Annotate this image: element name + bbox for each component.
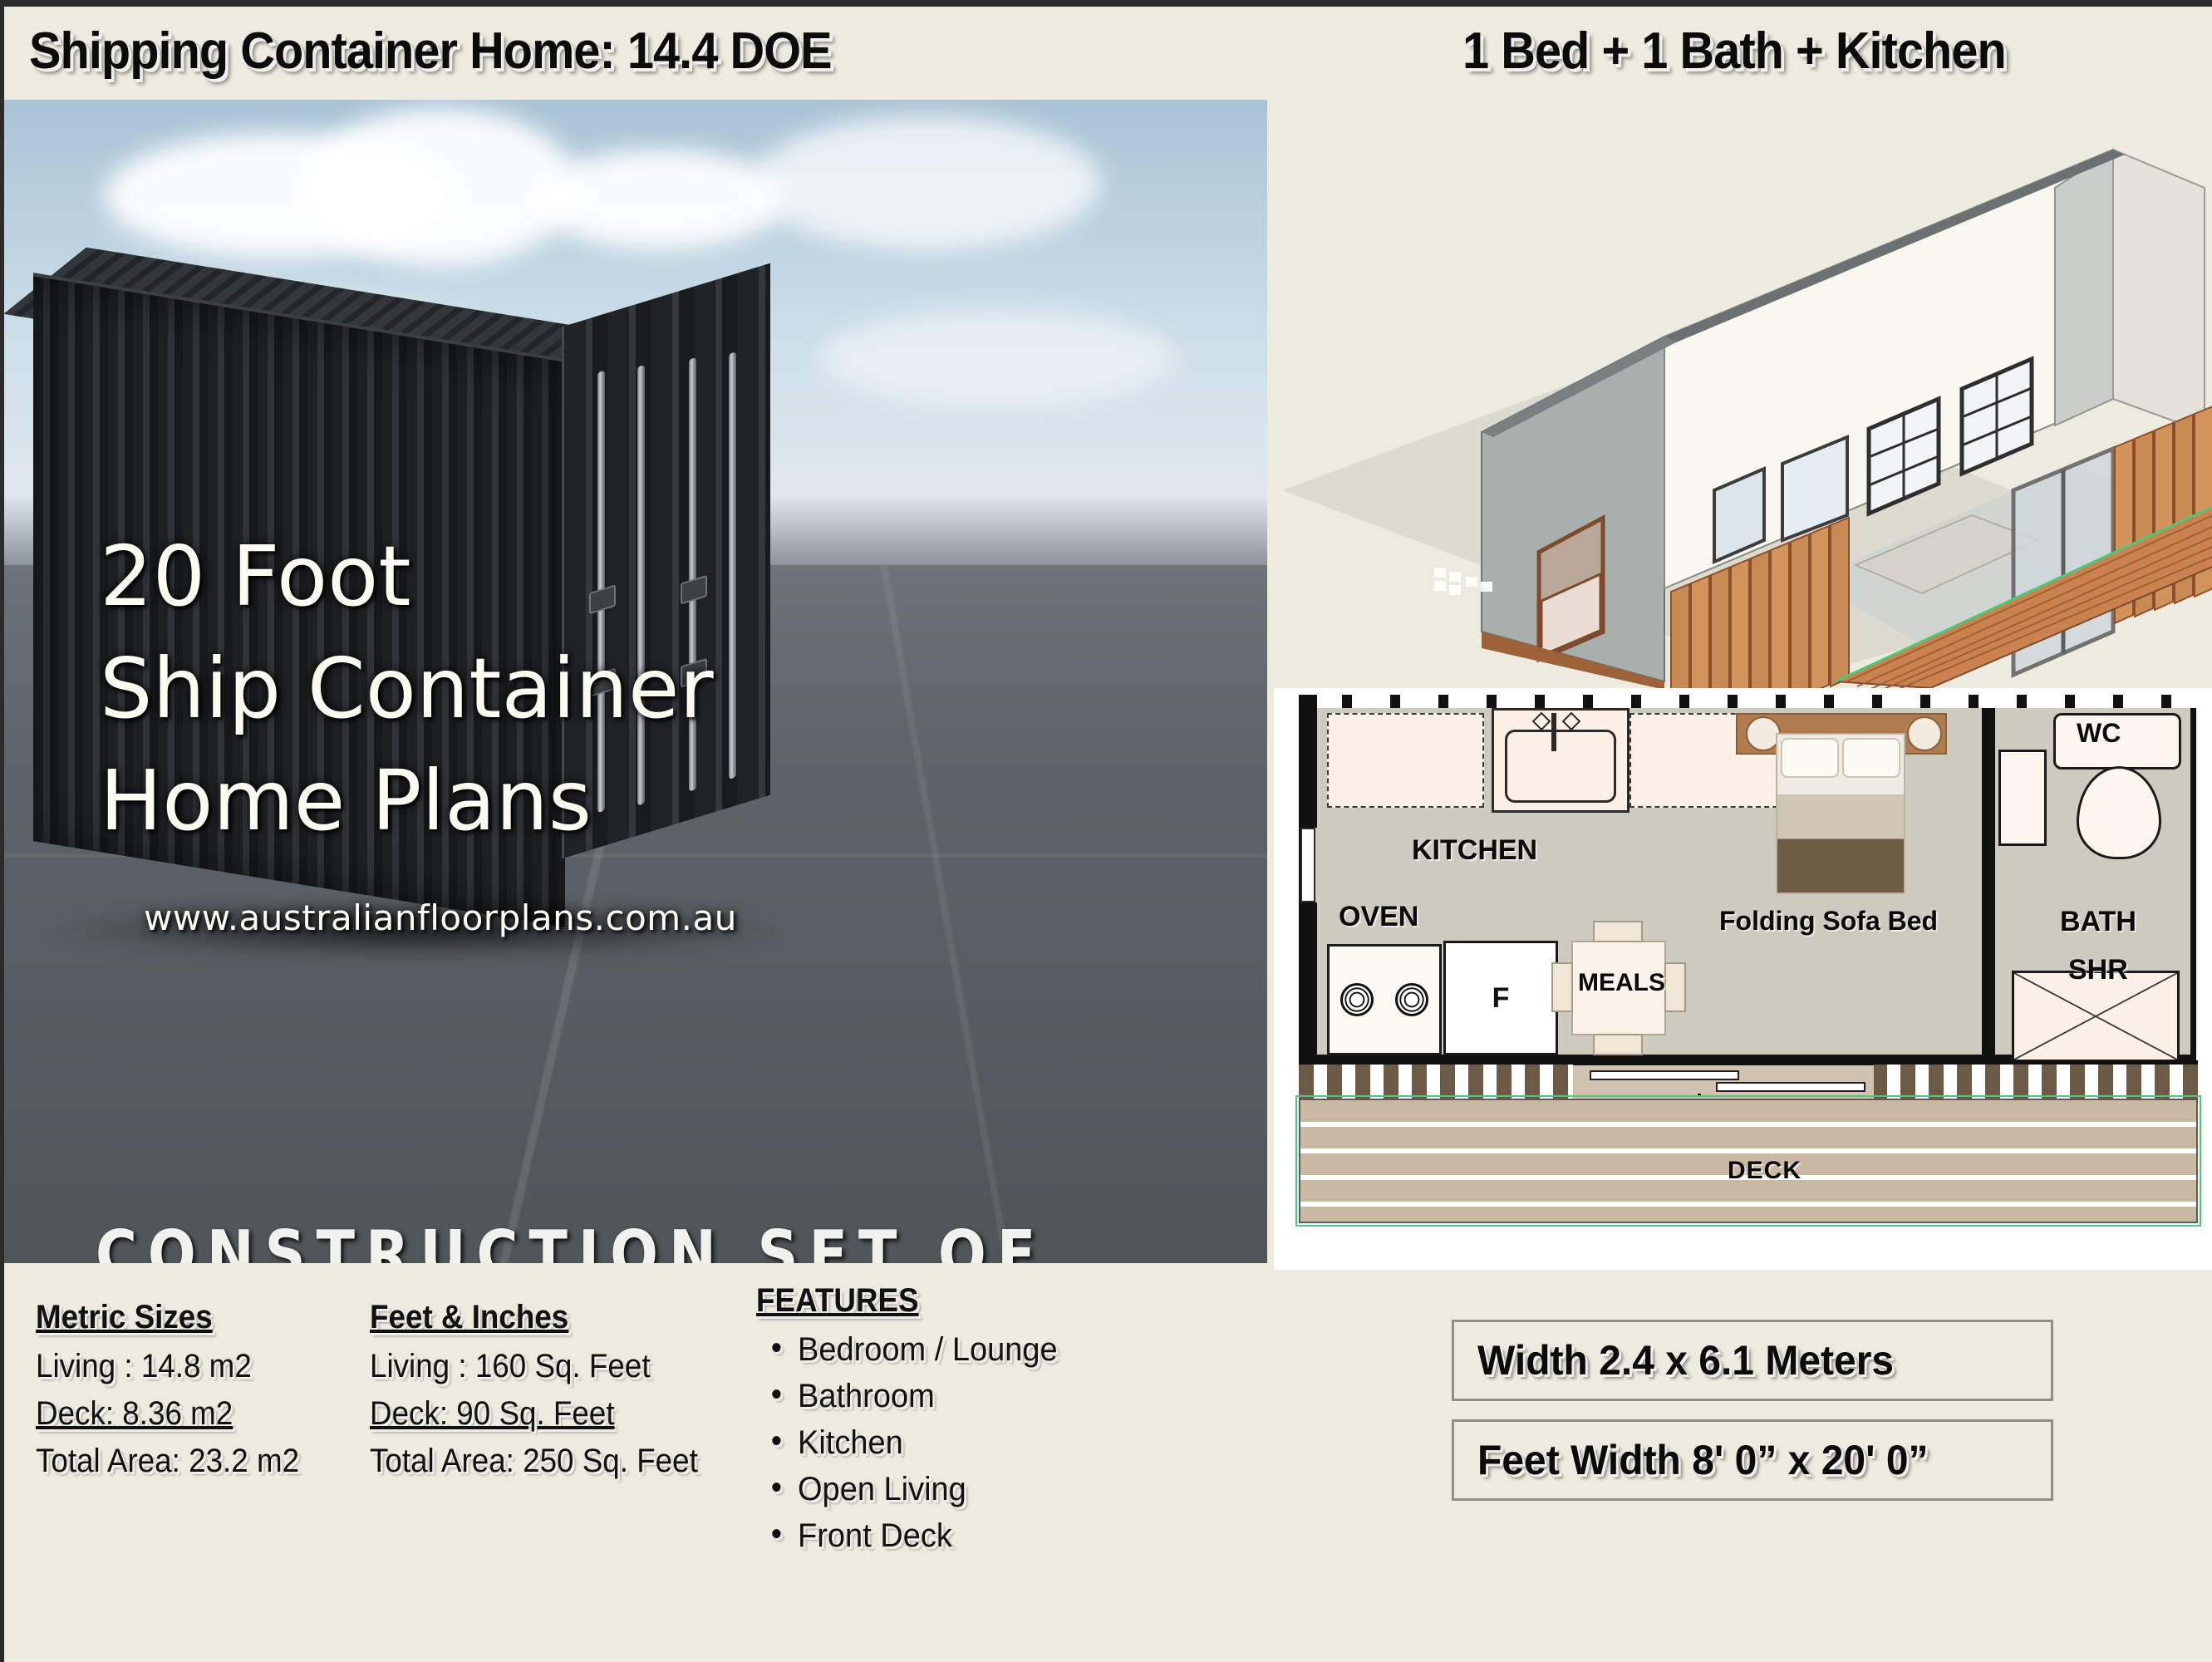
pillow-right [1842,738,1900,778]
metric-deck: Deck: 8.36 m2 [36,1395,299,1433]
website-url: www.australianfloorplans.com.au [144,897,737,938]
burner-icon [1395,983,1428,1016]
isometric-render [1274,100,2212,690]
list-item: Kitchen [798,1424,1058,1462]
fridge: F [1443,941,1558,1055]
construction-tagline: CONSTRUCTION SET OF PLANS [96,1217,1267,1263]
pillow-left [1781,738,1839,778]
chair-right [1664,962,1686,1012]
dimension-box-imperial: Feet Width 8' 0” x 20' 0” [1452,1419,2053,1501]
plan-top-wall [1299,695,2196,708]
imperial-deck: Deck: 90 Sq. Feet [370,1395,698,1433]
wall-bath-partition [1982,708,1995,1060]
isometric-svg [1274,100,2212,690]
imperial-total: Total Area: 250 Sq. Feet [370,1443,698,1480]
overlay-line-1: 20 Foot [100,528,411,625]
imperial-heading: Feet & Inches [370,1299,698,1336]
wall-left-lower [1299,902,1317,1060]
label-shr: SHR [2068,954,2128,986]
container-door-end [562,263,770,859]
tap-icon [1551,713,1556,751]
label-wc: WC [2077,718,2121,749]
vanity-basin [1998,750,2047,846]
metric-heading: Metric Sizes [36,1299,299,1336]
list-item: Bedroom / Lounge [798,1331,1058,1369]
poster-root: Shipping Container Home: 14.4 DOE 1 Bed … [4,7,2212,1662]
cooktop [1327,944,1442,1055]
list-item: Front Deck [798,1517,1058,1555]
dimension-box-metric: Width 2.4 x 6.1 Meters [1452,1320,2053,1401]
overlay-line-3: Home Plans [100,752,592,849]
wall-left-upper [1299,695,1317,828]
list-item: Bathroom [798,1378,1058,1415]
imperial-sizes-block: Feet & Inches Living : 160 Sq. Feet Deck… [370,1299,726,1490]
list-item: Open Living [798,1471,1058,1508]
container-photo: 20 Foot Ship Container Home Plans www.au… [4,100,1267,1263]
chair-top [1593,921,1643,942]
label-oven: OVEN [1339,901,1418,933]
chair-left [1551,962,1573,1012]
dimension-imperial-text: Feet Width 8' 0” x 20' 0” [1477,1436,1929,1484]
metric-total: Total Area: 23.2 m2 [36,1443,299,1480]
burner-icon [1340,983,1374,1016]
page-title-right: 1 Bed + 1 Bath + Kitchen [1462,22,2006,81]
overlay-line-2: Ship Container [100,640,714,737]
floor-plan-drawing: KITCHEN OVEN F MEALS Folding So [1287,695,2205,1202]
metric-living: Living : 14.8 m2 [36,1348,299,1385]
dimension-metric-text: Width 2.4 x 6.1 Meters [1477,1336,1894,1384]
sink-bowl [1505,730,1616,803]
metric-sizes-block: Metric Sizes Living : 14.8 m2 Deck: 8.36… [36,1299,322,1490]
imperial-living: Living : 160 Sq. Feet [370,1348,698,1385]
chair-bottom [1593,1034,1643,1055]
bedside-lamp-right-icon [1907,716,1942,751]
label-bath: BATH [2060,906,2136,938]
label-folding-sofa-bed: Folding Sofa Bed [1719,906,1938,937]
page-title-left: Shipping Container Home: 14.4 DOE [29,22,832,81]
features-block: FEATURES Bedroom / Lounge Bathroom Kitch… [756,1282,1071,1564]
label-meals: MEALS [1578,969,1665,997]
label-deck: DECK [1728,1157,1802,1185]
label-kitchen: KITCHEN [1412,834,1537,867]
floor-plan: KITCHEN OVEN F MEALS Folding So [1274,688,2212,1270]
window-left [1300,828,1315,902]
cabinet-left [1327,713,1484,808]
features-heading: FEATURES [756,1282,1046,1320]
features-list: Bedroom / Lounge Bathroom Kitchen Open L… [756,1331,1071,1555]
